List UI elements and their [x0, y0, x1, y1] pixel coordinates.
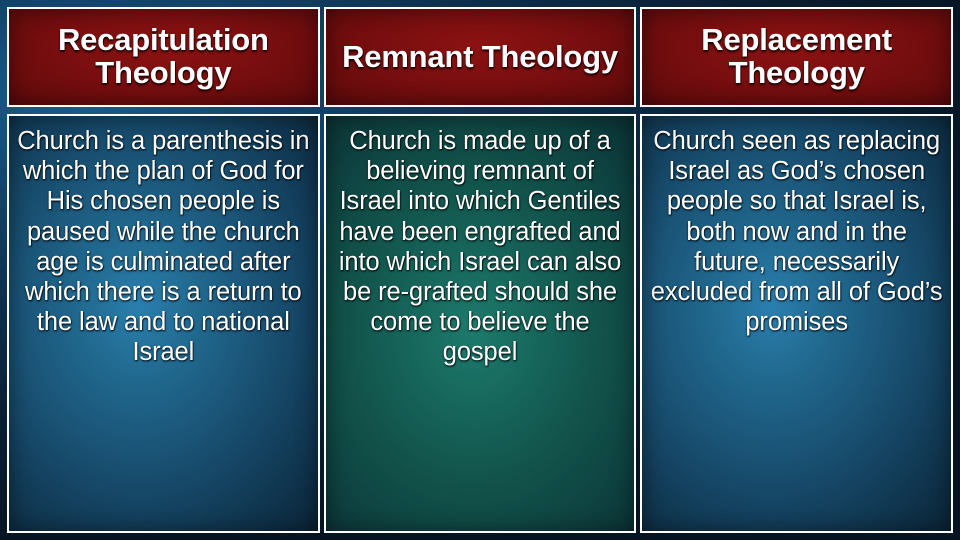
header-body-divider	[7, 107, 953, 114]
header-cell-replacement: Replacement Theology	[640, 7, 953, 107]
slide-canvas: Recapitulation Theology Remnant Theology…	[0, 0, 960, 540]
header-cell-remnant: Remnant Theology	[324, 7, 637, 107]
header-cell-recapitulation: Recapitulation Theology	[7, 7, 320, 107]
header-text-remnant: Remnant Theology	[336, 41, 624, 74]
body-text-replacement: Church seen as replacing Israel as God’s…	[650, 122, 943, 337]
table-header-row: Recapitulation Theology Remnant Theology…	[7, 7, 953, 107]
body-text-remnant: Church is made up of a believing remnant…	[334, 122, 627, 368]
body-text-recapitulation: Church is a parenthesis in which the pla…	[17, 122, 310, 368]
body-cell-replacement: Church seen as replacing Israel as God’s…	[640, 114, 953, 533]
table-body-row: Church is a parenthesis in which the pla…	[7, 114, 953, 533]
header-text-recapitulation: Recapitulation Theology	[9, 24, 318, 90]
body-cell-remnant: Church is made up of a believing remnant…	[324, 114, 637, 533]
comparison-table: Recapitulation Theology Remnant Theology…	[7, 7, 953, 533]
header-text-replacement: Replacement Theology	[642, 24, 951, 90]
body-cell-recapitulation: Church is a parenthesis in which the pla…	[7, 114, 320, 533]
